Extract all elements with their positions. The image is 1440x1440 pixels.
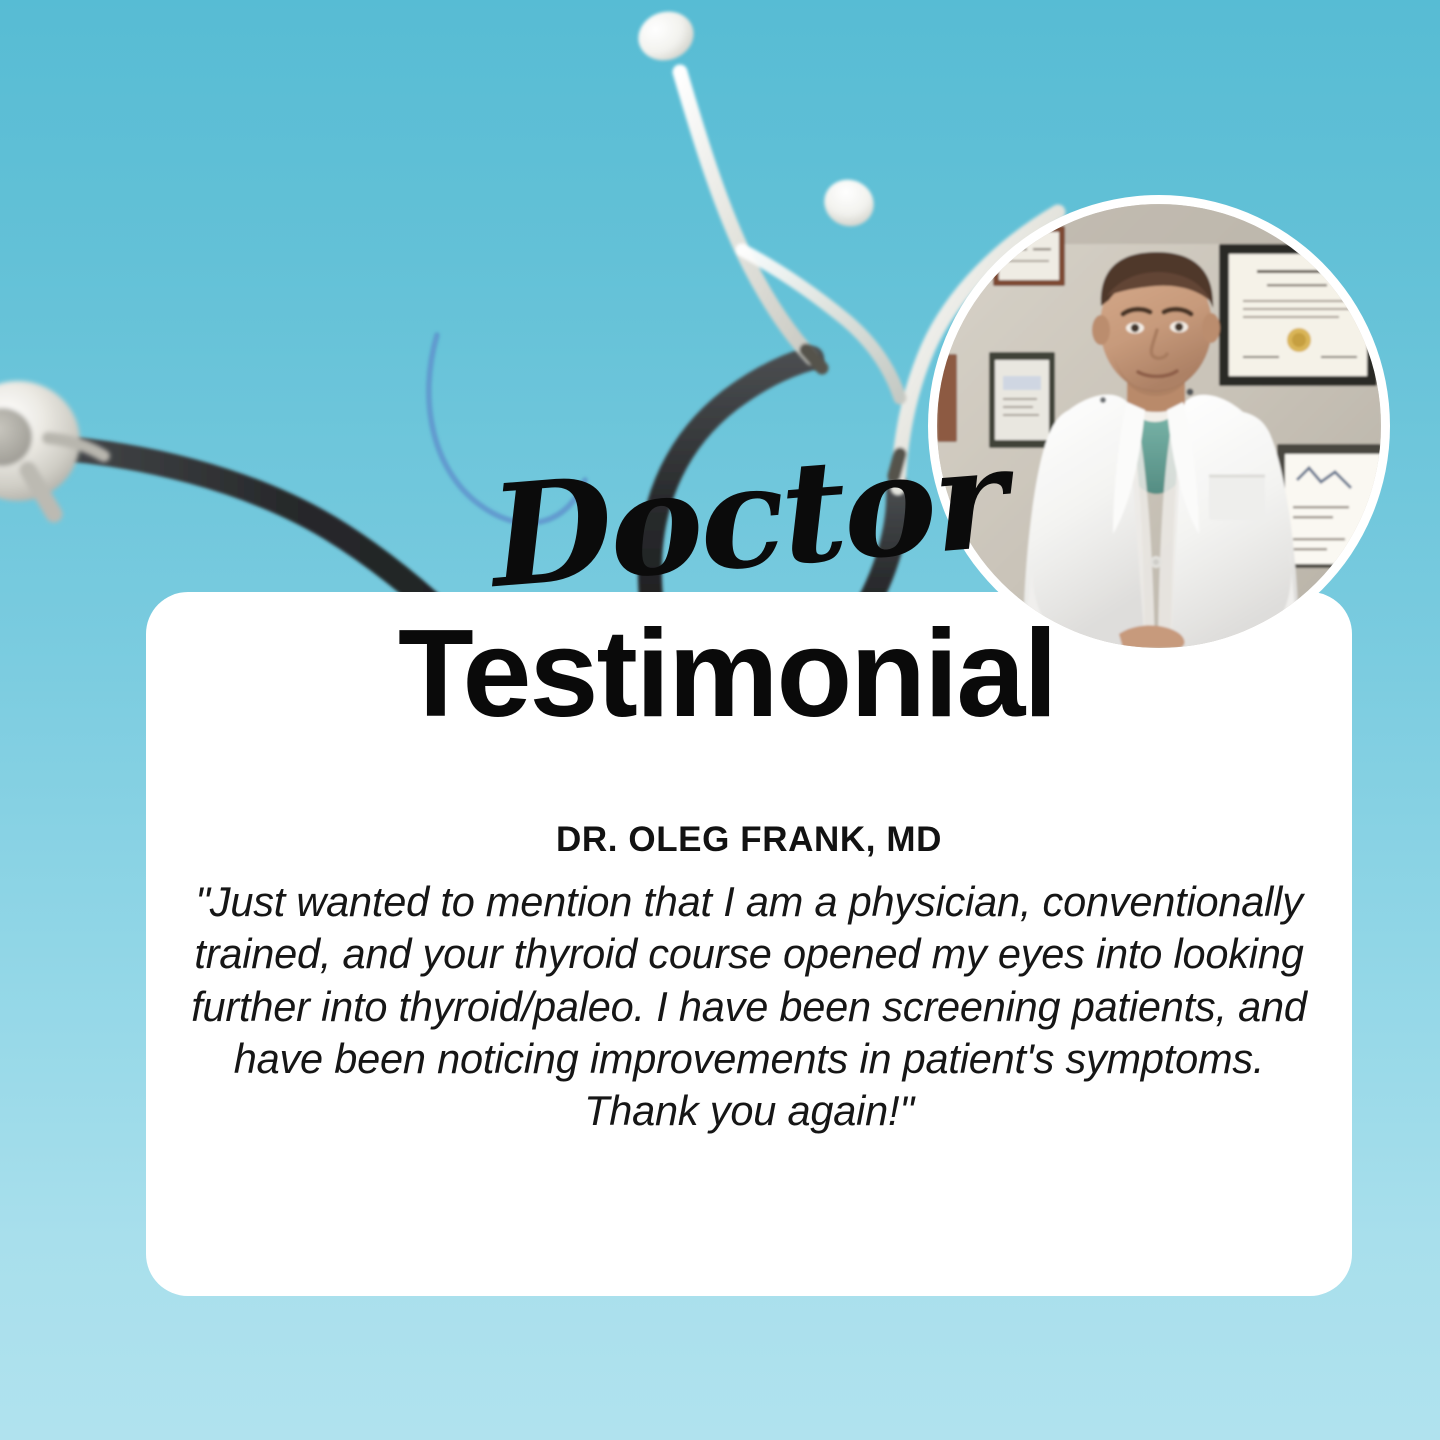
doctor-portrait-image	[937, 204, 1381, 648]
title-script-word: Doctor	[486, 432, 956, 608]
avatar	[928, 195, 1390, 657]
testimonial-graphic: DR. OLEG FRANK, MD "Just wanted to menti…	[0, 0, 1440, 1440]
doctor-name: DR. OLEG FRANK, MD	[182, 820, 1316, 860]
card-content: DR. OLEG FRANK, MD "Just wanted to menti…	[146, 820, 1352, 1137]
testimonial-card: DR. OLEG FRANK, MD "Just wanted to menti…	[146, 592, 1352, 1296]
doctor-portrait-illustration	[937, 204, 1381, 648]
testimonial-quote: "Just wanted to mention that I am a phys…	[182, 876, 1316, 1137]
